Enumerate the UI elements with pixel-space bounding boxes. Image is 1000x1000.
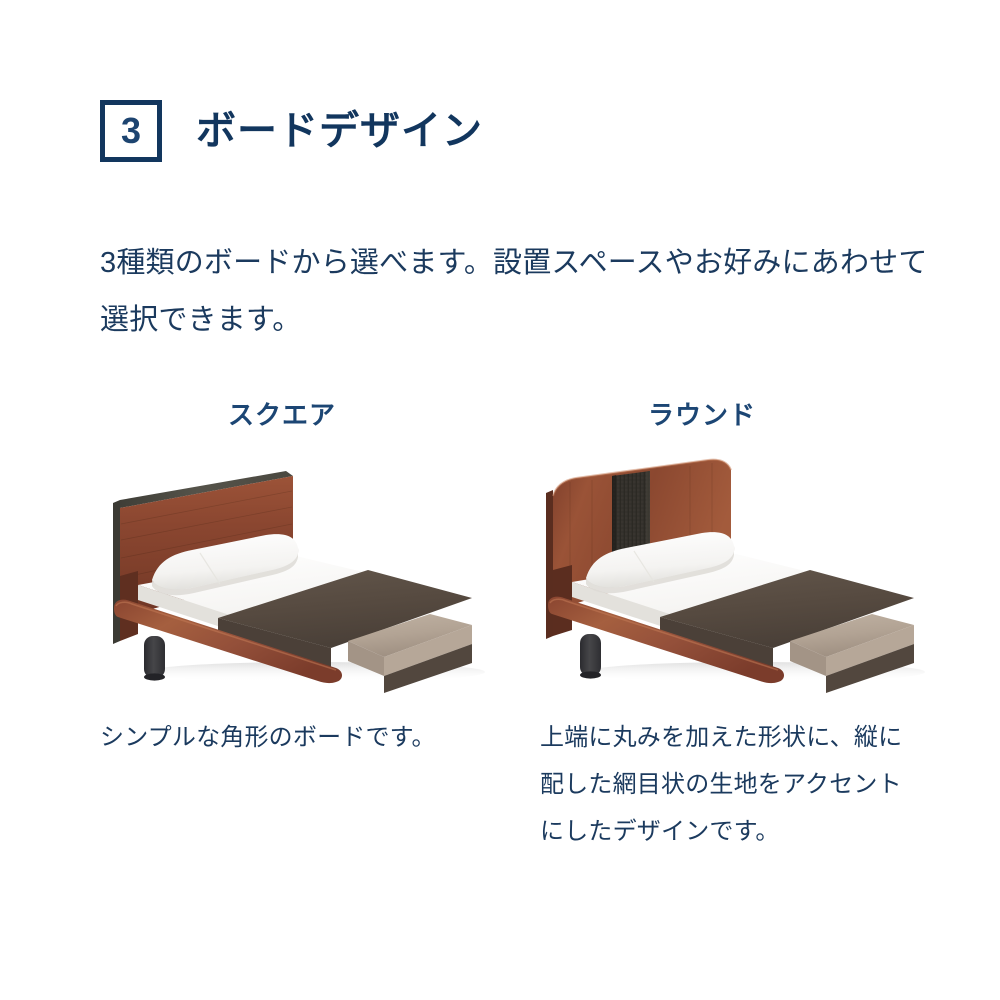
variant-caption-square: シンプルな角形のボードです。 — [100, 715, 472, 762]
page-title: ボードデザイン — [196, 111, 483, 151]
variant-caption-round: 上端に丸みを加えた形状に、縦に配した網目状の生地をアクセントにしたデザインです。 — [540, 715, 912, 855]
step-number-badge: 3 — [100, 100, 162, 162]
bed-image-square — [100, 458, 500, 693]
section-header: 3 ボードデザイン — [100, 100, 483, 162]
lead-paragraph: 3種類のボードから選べます。設置スペースやお好みにあわせて選択できます。 — [100, 235, 930, 348]
variant-card-round: ラウンド — [540, 402, 940, 879]
bed-image-round — [540, 458, 940, 693]
variant-label-round: ラウンド — [540, 402, 940, 436]
variant-label-square: スクエア — [100, 402, 500, 436]
page-root: 3 ボードデザイン 3種類のボードから選べます。設置スペースやお好みにあわせて選… — [0, 0, 1000, 1000]
variant-card-square: スクエア — [100, 402, 500, 786]
